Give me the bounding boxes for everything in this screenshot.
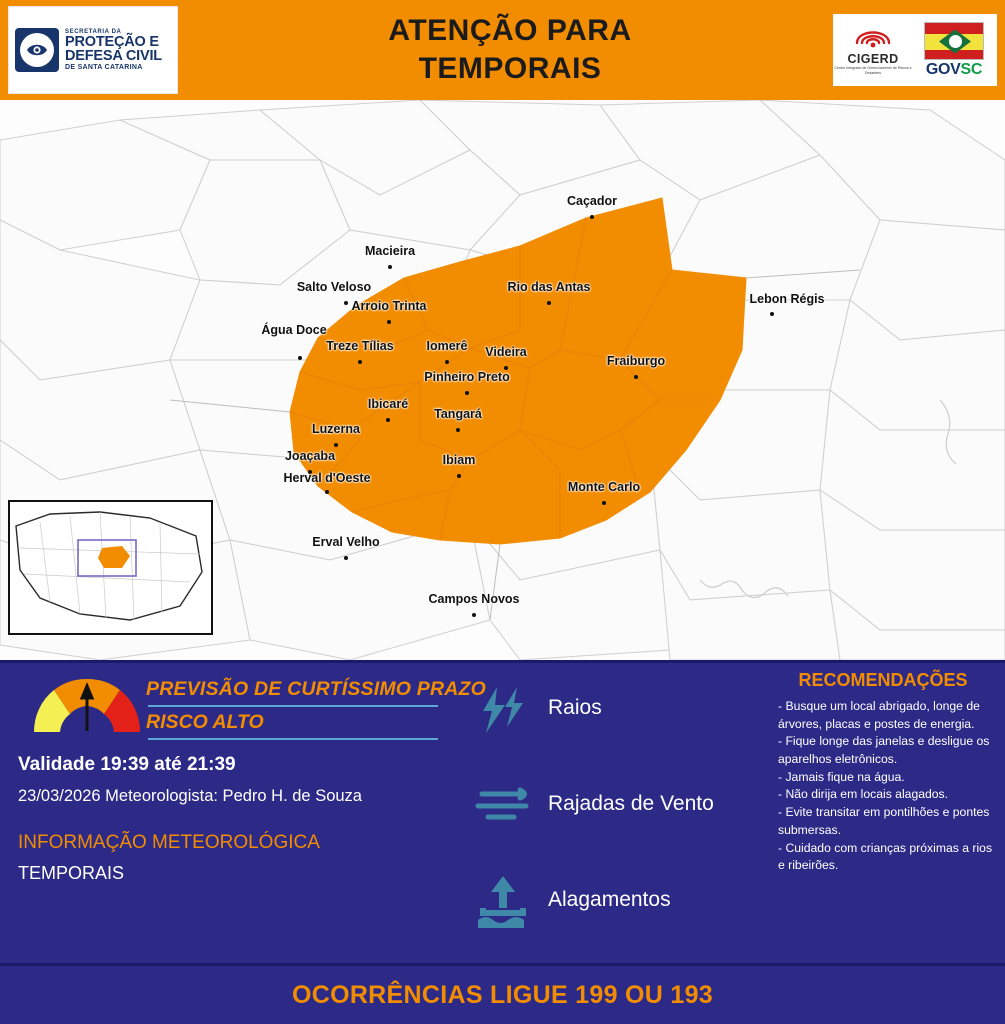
city-label: Luzerna bbox=[312, 422, 360, 436]
header-bar: SECRETARIA DA PROTEÇÃO E DEFESA CIVIL DE… bbox=[0, 0, 1005, 100]
city-dot bbox=[602, 501, 606, 505]
logo-line-4: DE SANTA CATARINA bbox=[65, 64, 162, 71]
lightning-bolts-icon bbox=[470, 682, 536, 738]
civil-defense-shield-icon bbox=[15, 28, 59, 72]
city-label: Ibiam bbox=[443, 453, 476, 467]
page-title-line-1: ATENÇÃO PARA bbox=[190, 12, 830, 50]
footer-bar: OCORRÊNCIAS LIGUE 199 OU 193 bbox=[0, 963, 1005, 1024]
recommendations-list: - Busque um local abrigado, longe de árv… bbox=[778, 698, 994, 875]
city-dot bbox=[634, 375, 638, 379]
emergency-phone-text: OCORRÊNCIAS LIGUE 199 OU 193 bbox=[292, 981, 713, 1010]
city-label: Pinheiro Preto bbox=[424, 370, 509, 384]
cigerd-subtitle: Centro Integrado de Gerenciamento de Ris… bbox=[833, 66, 913, 76]
city-label: Treze Tílias bbox=[326, 339, 393, 353]
city-label: Macieira bbox=[365, 244, 415, 258]
city-label: Herval d'Oeste bbox=[283, 471, 370, 485]
city-label: Erval Velho bbox=[312, 535, 379, 549]
city-dot bbox=[344, 301, 348, 305]
santa-catarina-flag-icon bbox=[924, 22, 984, 60]
info-panel: PREVISÃO DE CURTÍSSIMO PRAZO RISCO ALTO … bbox=[0, 660, 1005, 963]
city-label: Videira bbox=[485, 345, 526, 359]
city-dot bbox=[298, 356, 302, 360]
city-dot bbox=[457, 474, 461, 478]
legend-item-raios: Raios bbox=[470, 678, 770, 774]
forecast-underline bbox=[148, 705, 438, 707]
city-label: Monte Carlo bbox=[568, 480, 640, 494]
page-title-line-2: TEMPORAIS bbox=[190, 50, 830, 88]
legend-label: Raios bbox=[548, 696, 602, 720]
city-dot bbox=[770, 312, 774, 316]
risk-gauge-icon bbox=[28, 676, 146, 738]
cigerd-name: CIGERD bbox=[833, 52, 913, 66]
city-dot bbox=[547, 301, 551, 305]
city-label: Caçador bbox=[567, 194, 617, 208]
city-label: Água Doce bbox=[261, 323, 326, 337]
gov-sc-text: GOVSC bbox=[913, 61, 995, 79]
legend-item-alagamentos: Alagamentos bbox=[470, 870, 770, 966]
state-inset-map bbox=[8, 500, 213, 635]
civil-defense-logo: SECRETARIA DA PROTEÇÃO E DEFESA CIVIL DE… bbox=[8, 6, 178, 94]
legend-label: Rajadas de Vento bbox=[548, 792, 714, 816]
page-title: ATENÇÃO PARA TEMPORAIS bbox=[190, 12, 830, 89]
city-label: Campos Novos bbox=[429, 592, 520, 606]
warning-map[interactable]: CaçadorMacieiraRio das AntasSalto Veloso… bbox=[0, 100, 1005, 660]
gov-sc-logo: GOVSC bbox=[913, 22, 995, 79]
city-dot bbox=[358, 360, 362, 364]
signal-waves-icon bbox=[853, 24, 893, 50]
city-dot bbox=[386, 418, 390, 422]
city-label: Tangará bbox=[434, 407, 482, 421]
city-label: Joaçaba bbox=[285, 449, 335, 463]
meteo-info-value: TEMPORAIS bbox=[18, 863, 124, 884]
meteo-info-title: INFORMAÇÃO METEOROLÓGICA bbox=[18, 832, 320, 854]
city-dot bbox=[388, 265, 392, 269]
city-dot bbox=[325, 490, 329, 494]
alert-bulletin-page: SECRETARIA DA PROTEÇÃO E DEFESA CIVIL DE… bbox=[0, 0, 1005, 1024]
risk-underline bbox=[148, 738, 438, 740]
city-dot bbox=[445, 360, 449, 364]
city-dot bbox=[456, 428, 460, 432]
wind-gusts-icon bbox=[470, 778, 536, 834]
city-dot bbox=[465, 391, 469, 395]
validity-text: Validade 19:39 até 21:39 bbox=[18, 754, 236, 776]
city-dot bbox=[334, 443, 338, 447]
legend-item-rajadas: Rajadas de Vento bbox=[470, 774, 770, 870]
city-label: Fraiburgo bbox=[607, 354, 665, 368]
city-label: Iomerê bbox=[427, 339, 468, 353]
flooding-icon bbox=[470, 874, 536, 930]
city-dot bbox=[387, 320, 391, 324]
city-label: Ibicaré bbox=[368, 397, 408, 411]
hazard-legend: Raios Rajadas de Vento bbox=[470, 678, 770, 966]
legend-label: Alagamentos bbox=[548, 888, 671, 912]
logo-line-3: DEFESA CIVIL bbox=[65, 49, 162, 64]
panel-divider bbox=[0, 660, 1005, 663]
city-label: Rio das Antas bbox=[508, 280, 591, 294]
city-dot bbox=[344, 556, 348, 560]
partner-logos: CIGERD Centro Integrado de Gerenciamento… bbox=[833, 14, 997, 86]
city-label: Salto Veloso bbox=[297, 280, 371, 294]
meteorologist-text: 23/03/2026 Meteorologista: Pedro H. de S… bbox=[18, 787, 362, 806]
cigerd-logo: CIGERD Centro Integrado de Gerenciamento… bbox=[833, 24, 913, 76]
city-dot bbox=[590, 215, 594, 219]
city-label: Lebon Régis bbox=[749, 292, 824, 306]
risk-level: RISCO ALTO bbox=[146, 711, 264, 734]
city-dot bbox=[472, 613, 476, 617]
forecast-title: PREVISÃO DE CURTÍSSIMO PRAZO bbox=[146, 678, 486, 701]
logo-line-2: PROTEÇÃO E bbox=[65, 35, 162, 50]
recommendations-title: RECOMENDAÇÕES bbox=[773, 670, 993, 691]
city-label: Arroio Trinta bbox=[351, 299, 426, 313]
